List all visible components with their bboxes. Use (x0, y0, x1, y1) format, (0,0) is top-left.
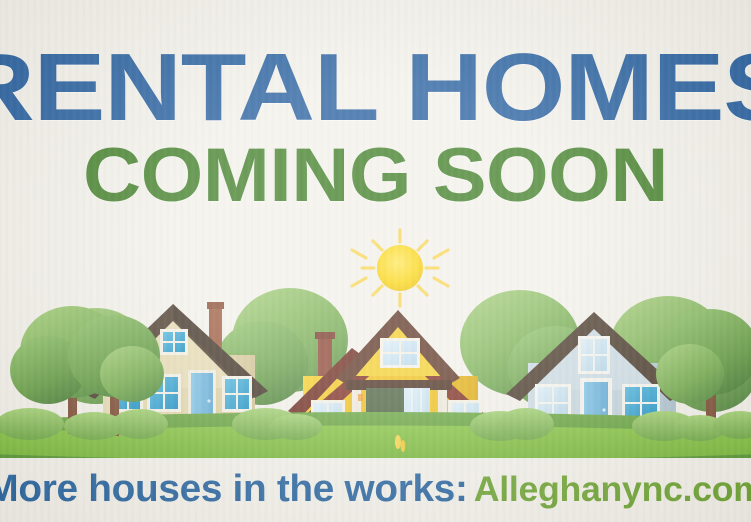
houses-illustration (0, 228, 751, 458)
sun-icon (352, 230, 448, 306)
scene-svg (0, 228, 751, 458)
footer-message: More houses in the works: (0, 468, 468, 510)
footer-line: More houses in the works:Alleghanync.com (0, 468, 751, 511)
page-title: RENTAL HOMES (0, 44, 751, 132)
website-link[interactable]: Alleghanync.com (474, 470, 751, 509)
rental-homes-sign: RENTAL HOMES COMING SOON (0, 0, 751, 522)
headline-block: RENTAL HOMES COMING SOON (0, 0, 751, 213)
footer-block: More houses in the works:Alleghanync.com (0, 456, 751, 522)
page-subtitle: COMING SOON (0, 140, 751, 212)
